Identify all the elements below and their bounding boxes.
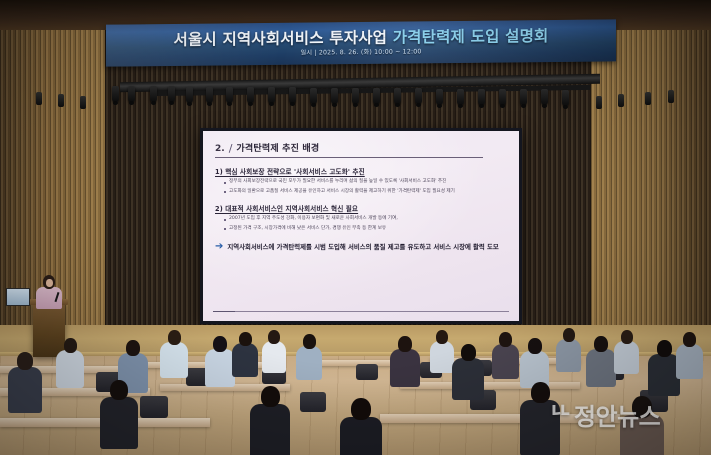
- stage-lamp: [352, 88, 359, 104]
- slide-footer-tick: [213, 311, 235, 313]
- stage-lamp: [226, 87, 233, 103]
- stage-lamp: [150, 86, 157, 102]
- presenter-body: [36, 287, 62, 309]
- stage-lamp: [645, 92, 651, 105]
- stage-lamp: [36, 92, 42, 105]
- stage-lamp: [289, 87, 296, 103]
- arrow-right-icon: ➔: [215, 242, 223, 252]
- section-bullet: 2007년 도입 후 지역 주도성 강화, 이용자 보편화 및 새로운 사회서비…: [224, 216, 507, 223]
- section-heading: 1) 핵심 사회보장 전략으로 '사회서비스 고도화' 추진: [215, 166, 507, 176]
- slide-footer-rule: [213, 311, 509, 312]
- stage-lamp: [168, 86, 175, 102]
- conclusion-text: 지역사회서비스에 가격탄력제를 시범 도입해 서비스의 품질 제고를 유도하고 …: [227, 243, 498, 253]
- stage-lamp: [436, 89, 443, 105]
- slide-conclusion: ➔ 지역사회서비스에 가격탄력제를 시범 도입해 서비스의 품질 제고를 유도하…: [215, 243, 507, 253]
- stage-lamp: [668, 90, 674, 103]
- stage-lamp: [310, 88, 317, 104]
- stage-lamp: [247, 87, 254, 103]
- section-bullet: 고정된 가격 구조, 시장가격에 비해 낮은 서비스 단가, 경쟁 유인 부족 …: [224, 226, 507, 233]
- stage-lamp: [618, 94, 624, 107]
- stage-lamp: [520, 89, 527, 105]
- slide-header: 2. / 가격탄력제 추진 배경: [215, 141, 483, 158]
- stage-lamp: [268, 87, 275, 103]
- side-monitor: [6, 288, 30, 306]
- event-banner: 서울시 지역사회서비스 투자사업 가격탄력제 도입 설명회 일시 | 2025.…: [106, 19, 616, 66]
- stage-lamp: [457, 89, 464, 105]
- projection-screen-frame: 2. / 가격탄력제 추진 배경 1) 핵심 사회보장 전략으로 '사회서비스 …: [200, 128, 522, 324]
- banner-title-main: 서울시 지역사회서비스 투자사업: [173, 29, 392, 49]
- stage-lamp: [112, 86, 119, 102]
- slide-number: 2.: [215, 144, 225, 154]
- stage-lamp: [394, 88, 401, 104]
- stage-lamp: [331, 88, 338, 104]
- watermark-text: 정안뉴스: [574, 397, 660, 432]
- slide-title: 가격탄력제 추진 배경: [236, 141, 319, 154]
- stage-lamp: [541, 89, 548, 105]
- banner-title-accent: 가격탄력제 도입 설명회: [393, 27, 549, 47]
- stage-lamp: [499, 89, 506, 105]
- stage-lamp: [478, 89, 485, 105]
- podium: [33, 303, 65, 357]
- section-heading: 2) 대표적 사회서비스인 지역사회서비스 혁신 필요: [215, 203, 507, 213]
- slide-section-1: 1) 핵심 사회보장 전략으로 '사회서비스 고도화' 추진 정부의 사회보장전…: [215, 166, 507, 195]
- stage-lamp: [596, 96, 602, 109]
- stage-lamp: [562, 90, 569, 106]
- stage-lamp: [58, 94, 64, 107]
- stage-lamp: [80, 96, 86, 109]
- stage-lamp: [186, 87, 193, 103]
- slide-section-2: 2) 대표적 사회서비스인 지역사회서비스 혁신 필요 2007년 도입 후 지…: [215, 203, 507, 232]
- section-bullet: 정부의 사회보장전략으로 국민 모두가 필요한 서비스를 누리며 삶의 질을 높…: [224, 179, 507, 186]
- section-bullet: 고도화의 일환으로 고품질 서비스 제공을 유인하고 서비스 시장의 활력을 제…: [224, 189, 507, 196]
- slide-divider: /: [229, 142, 233, 155]
- stage-lamp: [373, 88, 380, 104]
- presentation-slide: 2. / 가격탄력제 추진 배경 1) 핵심 사회보장 전략으로 '사회서비스 …: [203, 131, 519, 321]
- stage-lamp: [415, 88, 422, 104]
- watermark-logo-icon: ᄔ: [549, 396, 571, 433]
- stage-lamp: [206, 87, 213, 103]
- conference-hall-photo: 서울시 지역사회서비스 투자사업 가격탄력제 도입 설명회 일시 | 2025.…: [0, 0, 711, 455]
- news-watermark: ᄔ 정안뉴스: [549, 396, 660, 433]
- presenter-face: [46, 279, 53, 287]
- projection-screen: 2. / 가격탄력제 추진 배경 1) 핵심 사회보장 전략으로 '사회서비스 …: [203, 131, 519, 321]
- stage-lamp: [128, 86, 135, 102]
